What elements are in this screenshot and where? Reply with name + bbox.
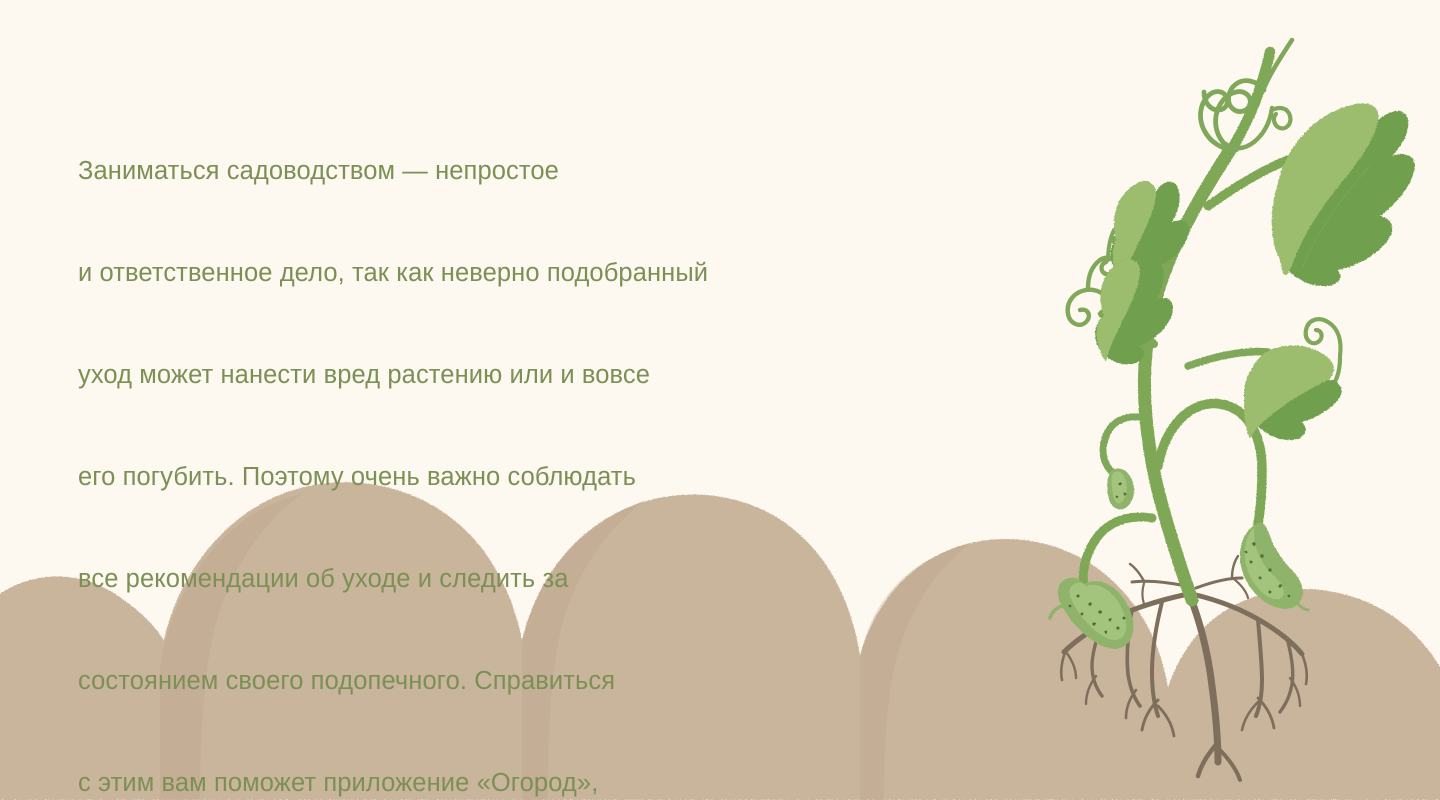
cucumber-ground <box>1050 578 1134 649</box>
cucumber-small <box>1107 468 1134 509</box>
poster-canvas: Заниматься садоводством — непростое и от… <box>0 0 1440 800</box>
intro-line-4: его погубить. Поэтому очень важно соблюд… <box>78 460 878 494</box>
intro-line-6: состоянием своего подопечного. Справитьс… <box>78 664 878 698</box>
intro-line-7: с этим вам поможет приложение «Огород», <box>78 766 878 800</box>
intro-line-5: все рекомендации об уходе и следить за <box>78 562 878 596</box>
large-leaf <box>1272 104 1415 286</box>
intro-paragraph: Заниматься садоводством — непростое и от… <box>78 86 878 800</box>
intro-line-1: Заниматься садоводством — непростое <box>78 154 878 188</box>
intro-line-3: уход может нанести вред растению или и в… <box>78 358 878 392</box>
cucumber-small-stem <box>1103 417 1146 472</box>
intro-line-2: и ответственное дело, так как неверно по… <box>78 256 878 290</box>
cucumber-hanging <box>1240 523 1308 611</box>
right-drooping-leaf <box>1244 346 1342 440</box>
mid-left-leaf <box>1095 259 1173 364</box>
cucumber-plant-illustration <box>1040 0 1440 800</box>
